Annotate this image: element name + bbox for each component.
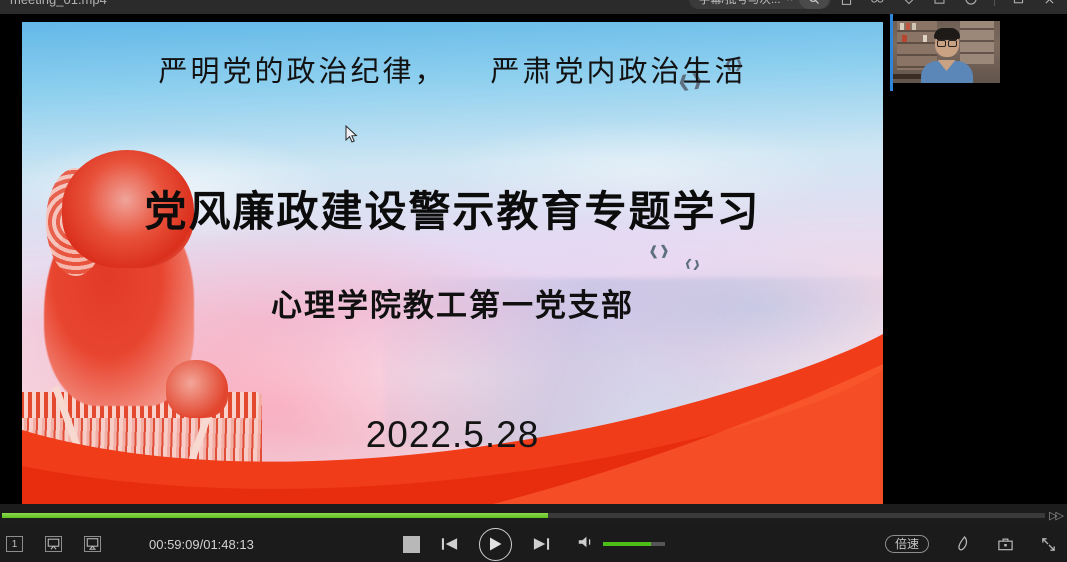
left-tool-group: 1 00:59:09/01:48:13 xyxy=(6,536,254,552)
webcam-letterbox-bottom xyxy=(893,83,1000,91)
slide-headline-right: 严肃党内政治生活 xyxy=(491,56,747,88)
window-title: meeting_01.mp4 xyxy=(10,0,107,7)
screen-mode-icon[interactable] xyxy=(45,536,62,552)
book-icon xyxy=(923,35,927,42)
transport-controls xyxy=(403,528,665,561)
volume-slider-fill xyxy=(603,542,651,546)
slide-headline: 严明党的政治纪律，严肃党内政治生活 xyxy=(22,48,883,90)
presentation-slide: ❰❱ ❰❱ ❰❱ ❰❱ 严明党的政治纪律，严 xyxy=(22,22,883,504)
bookshelf-right xyxy=(960,18,994,64)
time-display: 00:59:09/01:48:13 xyxy=(149,537,254,552)
video-player-window: meeting_01.mp4 字幕/批号与次... × xyxy=(0,0,1067,562)
slide-title: 党风廉政建设警示教育专题学习 xyxy=(22,178,883,239)
clear-search-icon[interactable]: × xyxy=(787,0,793,5)
clock-icon[interactable] xyxy=(963,0,978,7)
link-icon[interactable] xyxy=(870,0,885,7)
note-icon[interactable] xyxy=(839,0,854,7)
book-icon xyxy=(900,23,904,30)
heart-icon[interactable] xyxy=(901,0,916,7)
search-icon[interactable] xyxy=(799,0,829,9)
letterbox-left xyxy=(0,14,22,504)
double-chevron-right-icon[interactable]: ▷▷ xyxy=(1049,509,1062,522)
playback-speed-button[interactable]: 倍速 xyxy=(885,535,929,553)
glasses-icon xyxy=(937,39,957,44)
fullscreen-icon[interactable] xyxy=(1040,536,1057,553)
volume-control[interactable] xyxy=(577,534,665,555)
presenter-webcam[interactable] xyxy=(890,14,1000,91)
titlebar-icons xyxy=(839,0,1057,7)
book-icon xyxy=(902,35,907,42)
stop-button[interactable] xyxy=(403,536,420,553)
seek-bar[interactable] xyxy=(2,513,1045,518)
bird-icon: ❰❱ xyxy=(648,243,671,257)
progress-bar-row: ▷▷ xyxy=(0,504,1067,526)
volume-slider[interactable] xyxy=(603,542,665,546)
seek-bar-fill xyxy=(2,513,548,518)
slide-subtitle: 心理学院教工第一党支部 xyxy=(22,280,883,325)
close-icon[interactable] xyxy=(1042,0,1057,7)
presenter-hair xyxy=(934,28,960,39)
book-icon xyxy=(912,23,916,30)
snapshot-icon[interactable] xyxy=(955,535,971,553)
book-icon xyxy=(906,23,910,30)
webcam-letterbox-top xyxy=(893,14,1000,21)
window-icon[interactable] xyxy=(932,0,947,7)
player-control-bar: 1 00:59:09/01:48:13 xyxy=(0,526,1067,562)
slide-headline-left: 严明党的政治纪律， xyxy=(158,56,446,88)
next-button[interactable] xyxy=(532,536,551,552)
page-number-label: 1 xyxy=(12,539,18,550)
quality-mode-icon[interactable] xyxy=(84,536,101,552)
volume-button[interactable] xyxy=(577,534,595,555)
slide-date: 2022.5.28 xyxy=(22,414,883,456)
maximize-icon[interactable] xyxy=(1011,0,1026,7)
search-box[interactable]: 字幕/批号与次... × xyxy=(689,0,831,9)
video-stage[interactable]: ❰❱ ❰❱ ❰❱ ❰❱ 严明党的政治纪律，严 xyxy=(0,14,1067,504)
toolbox-icon[interactable] xyxy=(997,536,1014,552)
right-tool-group: 倍速 xyxy=(885,535,1057,553)
title-bar: meeting_01.mp4 字幕/批号与次... × xyxy=(0,0,1067,14)
play-button[interactable] xyxy=(479,528,512,561)
titlebar-divider xyxy=(994,0,995,6)
page-number-indicator[interactable]: 1 xyxy=(6,536,23,552)
search-input[interactable]: 字幕/批号与次... xyxy=(699,0,781,7)
mouse-cursor xyxy=(345,125,358,144)
previous-button[interactable] xyxy=(440,536,459,552)
